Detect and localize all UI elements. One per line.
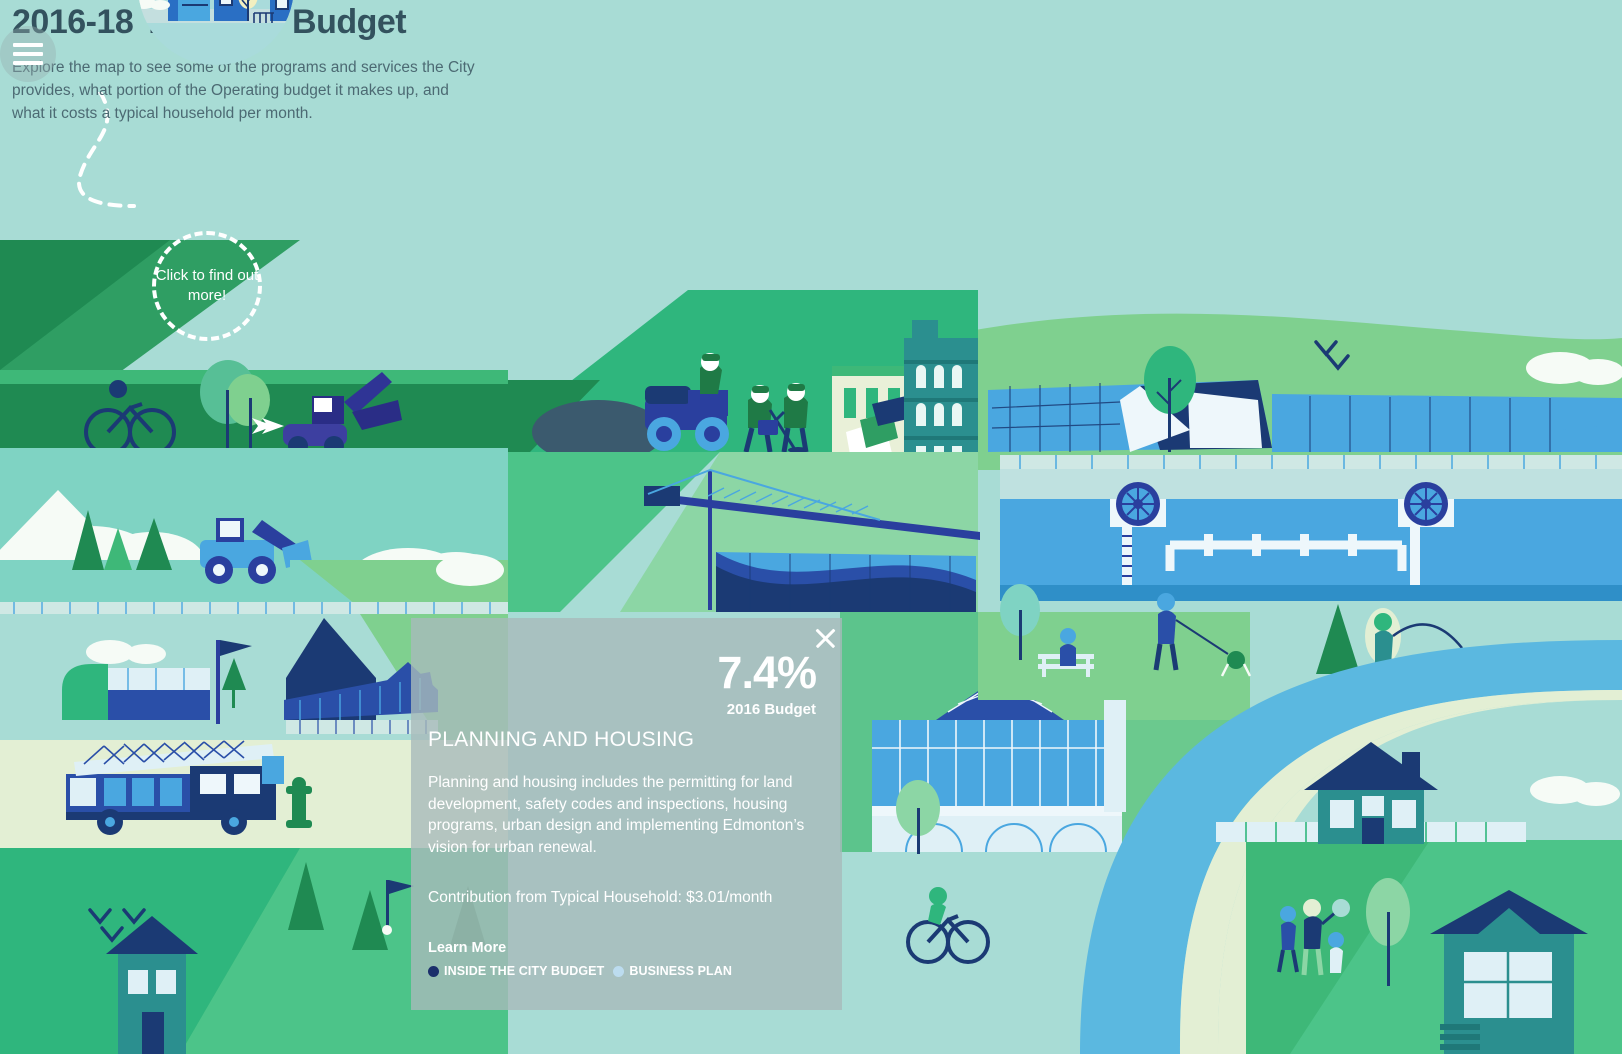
card-body: PLANNING AND HOUSING Planning and housin… <box>428 728 828 978</box>
link-business-plan[interactable]: BUSINESS PLAN <box>613 964 732 978</box>
learn-more-label: Learn More <box>428 940 828 956</box>
link-label: INSIDE THE CITY BUDGET <box>444 964 604 978</box>
budget-percent-value: 7.4% <box>717 648 816 698</box>
card-title: PLANNING AND HOUSING <box>428 728 828 752</box>
hamburger-bar <box>13 52 43 56</box>
budget-info-card: 7.4% 2016 Budget PLANNING AND HOUSING Pl… <box>411 618 842 1010</box>
link-inside-the-city-budget[interactable]: INSIDE THE CITY BUDGET <box>428 964 604 978</box>
click-hint-bubble[interactable]: Click to find out more! <box>152 231 262 341</box>
budget-percent-block: 7.4% 2016 Budget <box>717 648 816 718</box>
card-contribution: Contribution from Typical Household: $3.… <box>428 889 828 907</box>
close-icon[interactable] <box>807 620 843 656</box>
budget-percent-label: 2016 Budget <box>717 701 816 718</box>
hint-label: Click to find out more! <box>152 266 262 306</box>
bullet-dot-icon <box>428 966 439 977</box>
budget-map-app: 2016-18 YEG City Budget Explore the map … <box>0 0 1622 1054</box>
hamburger-bar <box>13 43 43 47</box>
hamburger-menu-icon[interactable] <box>0 26 56 82</box>
hamburger-bar <box>13 61 43 65</box>
learn-more-links: INSIDE THE CITY BUDGET BUSINESS PLAN <box>428 964 828 978</box>
card-description: Planning and housing includes the permit… <box>428 772 828 858</box>
bullet-dot-icon <box>613 966 624 977</box>
link-label: BUSINESS PLAN <box>629 964 732 978</box>
